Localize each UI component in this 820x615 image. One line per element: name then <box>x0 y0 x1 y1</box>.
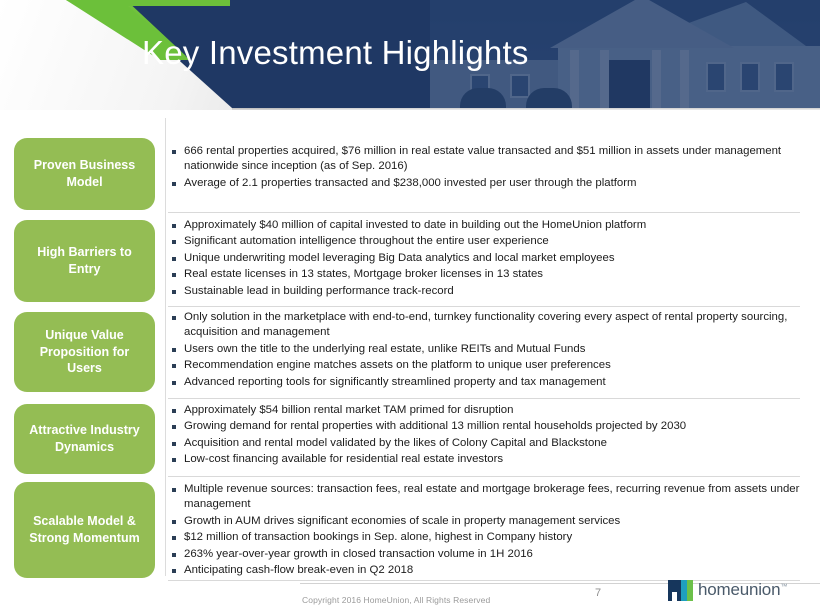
copyright-text: Copyright 2016 HomeUnion, All Rights Res… <box>302 595 490 605</box>
bullet-list: 666 rental properties acquired, $76 mill… <box>170 144 800 191</box>
category-pill-high-barriers-to-entry[interactable]: High Barriers to Entry <box>14 220 155 302</box>
list-item: Real estate licenses in 13 states, Mortg… <box>170 267 800 282</box>
list-item: Advanced reporting tools for significant… <box>170 375 800 390</box>
photo-window <box>510 74 530 98</box>
list-item: Approximately $54 billion rental market … <box>170 403 800 418</box>
homeunion-logo: homeunion™ <box>668 578 787 601</box>
content-vertical-divider <box>165 118 166 576</box>
list-item: $12 million of transaction bookings in S… <box>170 530 800 545</box>
bullet-list: Only solution in the marketplace with en… <box>170 310 800 390</box>
list-item: Sustainable lead in building performance… <box>170 284 800 299</box>
house-icon <box>668 578 693 601</box>
photo-roof-primary <box>550 0 734 48</box>
logo-teal-bar <box>681 580 687 601</box>
list-item: Only solution in the marketplace with en… <box>170 310 800 341</box>
category-pill-label: Unique Value Proposition for Users <box>22 327 147 378</box>
logo-green-bar <box>687 580 693 601</box>
list-item: 263% year-over-year growth in closed tra… <box>170 547 800 562</box>
logo-wordmark-text: homeunion <box>698 580 780 599</box>
page-number: 7 <box>595 587 601 599</box>
bullet-list: Approximately $40 million of capital inv… <box>170 218 800 299</box>
category-pill-label: Scalable Model & Strong Momentum <box>22 513 147 547</box>
category-pill-proven-business-model[interactable]: Proven Business Model <box>14 138 155 210</box>
section-divider <box>168 398 800 399</box>
list-item: Low-cost financing available for residen… <box>170 452 800 467</box>
photo-window <box>740 62 760 92</box>
page-title: Key Investment Highlights <box>142 34 529 72</box>
bullet-group-1: 666 rental properties acquired, $76 mill… <box>170 144 800 192</box>
photo-window <box>706 62 726 92</box>
list-item: Acquisition and rental model validated b… <box>170 436 800 451</box>
list-item: 666 rental properties acquired, $76 mill… <box>170 144 800 175</box>
category-pill-attractive-industry-dynamics[interactable]: Attractive Industry Dynamics <box>14 404 155 474</box>
list-item: Growing demand for rental properties wit… <box>170 419 800 434</box>
list-item: Average of 2.1 properties transacted and… <box>170 176 800 191</box>
photo-column <box>600 50 609 108</box>
photo-shrub <box>526 88 572 108</box>
slide-content: Proven Business Model 666 rental propert… <box>0 110 820 580</box>
logo-wordmark: homeunion™ <box>698 580 787 600</box>
logo-house-roof <box>668 580 680 587</box>
photo-column <box>652 50 661 108</box>
bullet-list: Multiple revenue sources: transaction fe… <box>170 482 800 578</box>
category-pill-label: High Barriers to Entry <box>22 244 147 278</box>
category-pill-scalable-model[interactable]: Scalable Model & Strong Momentum <box>14 482 155 578</box>
section-divider <box>168 476 800 477</box>
bullet-group-4: Approximately $54 billion rental market … <box>170 403 800 469</box>
list-item: Unique underwriting model leveraging Big… <box>170 251 800 266</box>
section-divider <box>168 306 800 307</box>
category-pill-label: Proven Business Model <box>22 157 147 191</box>
category-pill-unique-value-proposition[interactable]: Unique Value Proposition for Users <box>14 312 155 392</box>
list-item: Anticipating cash-flow break-even in Q2 … <box>170 563 800 578</box>
category-pill-label: Attractive Industry Dynamics <box>22 422 147 456</box>
list-item: Multiple revenue sources: transaction fe… <box>170 482 800 513</box>
bullet-group-5: Multiple revenue sources: transaction fe… <box>170 482 800 579</box>
photo-column <box>680 50 689 108</box>
photo-shrub <box>460 88 506 108</box>
photo-column <box>570 50 579 108</box>
logo-house-door <box>672 592 677 601</box>
list-item: Recommendation engine matches assets on … <box>170 358 800 373</box>
bullet-group-3: Only solution in the marketplace with en… <box>170 310 800 391</box>
slide-header-banner: Key Investment Highlights <box>0 0 820 110</box>
list-item: Growth in AUM drives significant economi… <box>170 514 800 529</box>
photo-window <box>774 62 794 92</box>
list-item: Approximately $40 million of capital inv… <box>170 218 800 233</box>
list-item: Users own the title to the underlying re… <box>170 342 800 357</box>
section-divider <box>168 212 800 213</box>
bullet-list: Approximately $54 billion rental market … <box>170 403 800 468</box>
trademark-symbol: ™ <box>780 583 787 590</box>
bullet-group-2: Approximately $40 million of capital inv… <box>170 218 800 300</box>
list-item: Significant automation intelligence thro… <box>170 234 800 249</box>
photo-entry-shadow <box>606 60 650 108</box>
